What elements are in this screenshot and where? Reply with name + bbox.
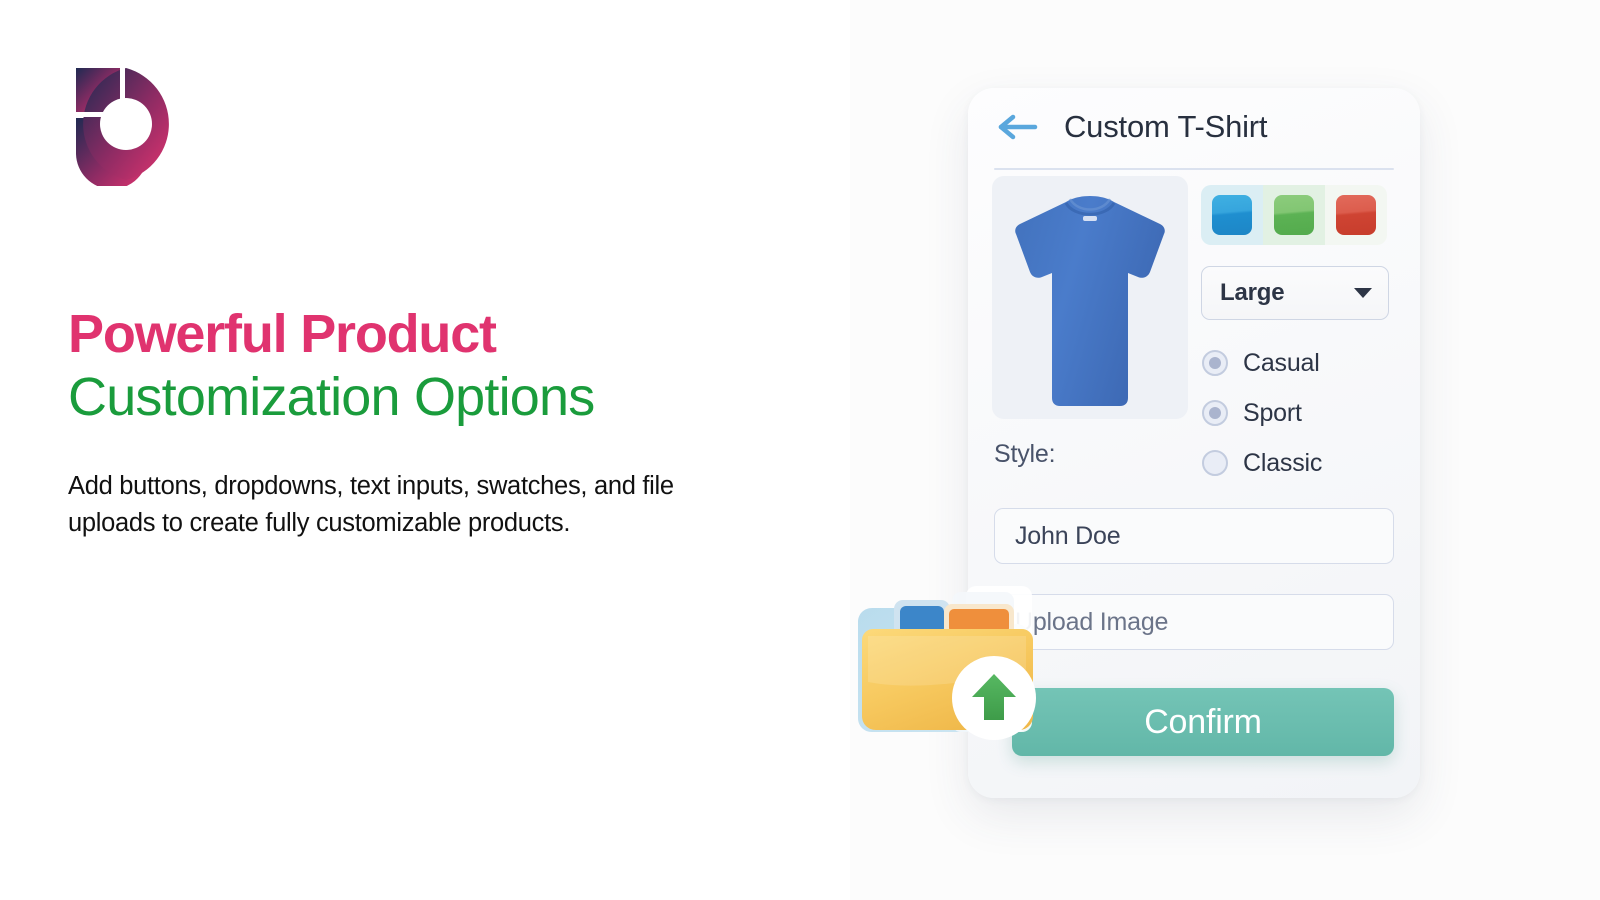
color-swatch-red[interactable] — [1325, 185, 1387, 245]
tshirt-icon — [992, 176, 1188, 419]
upload-image-input[interactable]: Upload Image — [994, 594, 1394, 650]
card-header: Custom T-Shirt — [968, 88, 1420, 166]
color-swatch-green[interactable] — [1263, 185, 1325, 245]
upload-image-placeholder: Upload Image — [1015, 608, 1168, 637]
radio-option-classic[interactable]: Classic — [1202, 438, 1392, 488]
radio-icon-classic — [1202, 450, 1228, 476]
name-input[interactable]: John Doe — [994, 508, 1394, 564]
size-dropdown-value: Large — [1220, 279, 1284, 307]
radio-option-casual[interactable]: Casual — [1202, 338, 1392, 388]
radio-label-casual: Casual — [1243, 349, 1320, 378]
hero-left-column: Powerful Product Customization Options A… — [0, 0, 850, 900]
product-preview — [992, 176, 1188, 419]
style-radio-group[interactable]: Casual Sport Classic — [1202, 338, 1392, 488]
swatch-chip-red — [1336, 195, 1376, 235]
size-dropdown[interactable]: Large — [1201, 266, 1389, 320]
headline-line-1: Powerful Product — [68, 305, 768, 363]
page-title: Custom T-Shirt — [1064, 109, 1267, 145]
headline-line-2: Customization Options — [68, 363, 768, 432]
header-divider — [994, 168, 1394, 170]
swatch-chip-green — [1274, 195, 1314, 235]
style-label: Style: — [994, 440, 1055, 469]
radio-icon-sport — [1202, 400, 1228, 426]
radio-label-classic: Classic — [1243, 449, 1322, 478]
hero-subcopy: Add buttons, dropdowns, text inputs, swa… — [68, 468, 708, 541]
confirm-button[interactable]: Confirm — [1012, 688, 1394, 756]
radio-icon-casual — [1202, 350, 1228, 376]
hero-headline: Powerful Product Customization Options — [68, 305, 768, 432]
b-mark-logo — [68, 62, 188, 186]
color-swatch-row[interactable] — [1201, 185, 1387, 245]
product-customizer-card: Custom T-Shirt — [968, 88, 1420, 798]
swatch-chip-blue — [1212, 195, 1252, 235]
radio-label-sport: Sport — [1243, 399, 1302, 428]
chevron-down-icon — [1354, 288, 1372, 298]
confirm-button-label: Confirm — [1144, 703, 1262, 742]
arrow-left-icon[interactable] — [996, 112, 1040, 142]
name-input-value: John Doe — [1015, 522, 1120, 551]
color-swatch-blue[interactable] — [1201, 185, 1263, 245]
radio-option-sport[interactable]: Sport — [1202, 388, 1392, 438]
